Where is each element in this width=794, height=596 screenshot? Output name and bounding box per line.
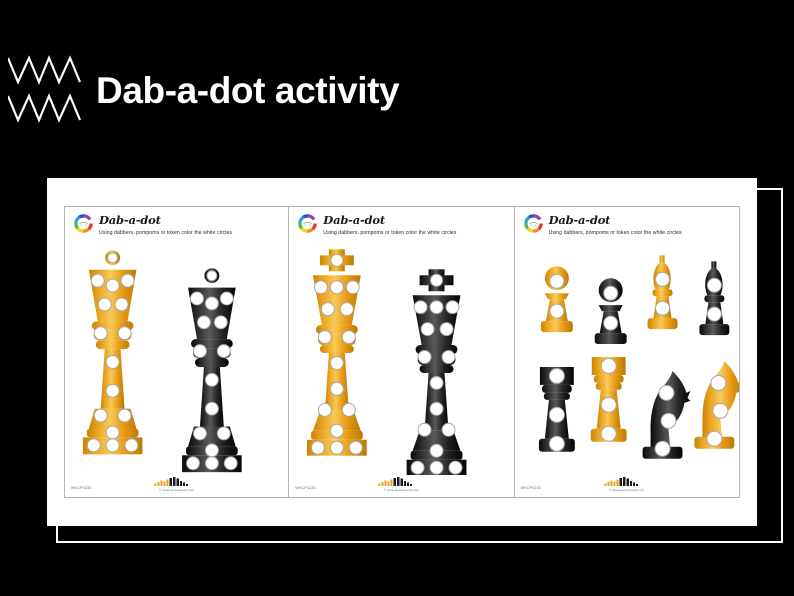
worksheet-cards-row: Dab-a-dot Using dabbers, pompoms or toke… bbox=[64, 206, 740, 498]
rainbow-circle-logo-icon bbox=[74, 214, 93, 233]
worksheet-card[interactable]: Dab-a-dot Using dabbers, pompoms or toke… bbox=[289, 206, 514, 498]
worksheet-code: WKCP0233 bbox=[521, 486, 541, 490]
chess-pieces-artwork-queens bbox=[65, 249, 288, 475]
page-title: Dab-a-dot activity bbox=[96, 70, 399, 112]
publisher-url: © www.worksheetly.com bbox=[149, 488, 205, 492]
card-header: Dab-a-dot Using dabbers, pompoms or toke… bbox=[74, 213, 282, 247]
card-header: Dab-a-dot Using dabbers, pompoms or toke… bbox=[524, 213, 733, 247]
card-footer: WKCP0233 © www.w bbox=[289, 475, 513, 493]
publisher-logo-icon: © www.worksheetly.com bbox=[373, 477, 429, 493]
card-subtitle: Using dabbers, pompoms or token color th… bbox=[99, 230, 232, 236]
publisher-url: © www.worksheetly.com bbox=[373, 488, 429, 492]
rainbow-circle-logo-icon bbox=[298, 214, 317, 233]
card-title: Dab-a-dot bbox=[323, 213, 385, 227]
card-subtitle: Using dabbers, pompoms or token color th… bbox=[549, 230, 682, 236]
slide-header: Dab-a-dot activity bbox=[0, 0, 794, 170]
publisher-url: © www.worksheetly.com bbox=[599, 488, 655, 492]
card-subtitle: Using dabbers, pompoms or token color th… bbox=[323, 230, 456, 236]
card-footer: WKCP0233 © www.w bbox=[65, 475, 288, 493]
publisher-logo-icon: © www.worksheetly.com bbox=[599, 477, 655, 493]
zigzag-lines-icon bbox=[8, 52, 90, 128]
chess-pieces-artwork-kings bbox=[289, 249, 513, 475]
card-title: Dab-a-dot bbox=[549, 213, 611, 227]
worksheet-code: WKCP0233 bbox=[295, 486, 315, 490]
card-footer: WKCP0233 © www.w bbox=[515, 475, 739, 493]
worksheet-card[interactable]: Dab-a-dot Using dabbers, pompoms or toke… bbox=[515, 206, 740, 498]
worksheet-card[interactable]: Dab-a-dot Using dabbers, pompoms or toke… bbox=[64, 206, 289, 498]
publisher-logo-icon: © www.worksheetly.com bbox=[149, 477, 205, 493]
chess-pieces-artwork-mixed bbox=[515, 249, 739, 475]
worksheet-panel: Dab-a-dot Using dabbers, pompoms or toke… bbox=[47, 178, 757, 526]
rainbow-circle-logo-icon bbox=[524, 214, 543, 233]
card-title: Dab-a-dot bbox=[99, 213, 161, 227]
card-header: Dab-a-dot Using dabbers, pompoms or toke… bbox=[298, 213, 507, 247]
worksheet-code: WKCP0233 bbox=[71, 486, 91, 490]
